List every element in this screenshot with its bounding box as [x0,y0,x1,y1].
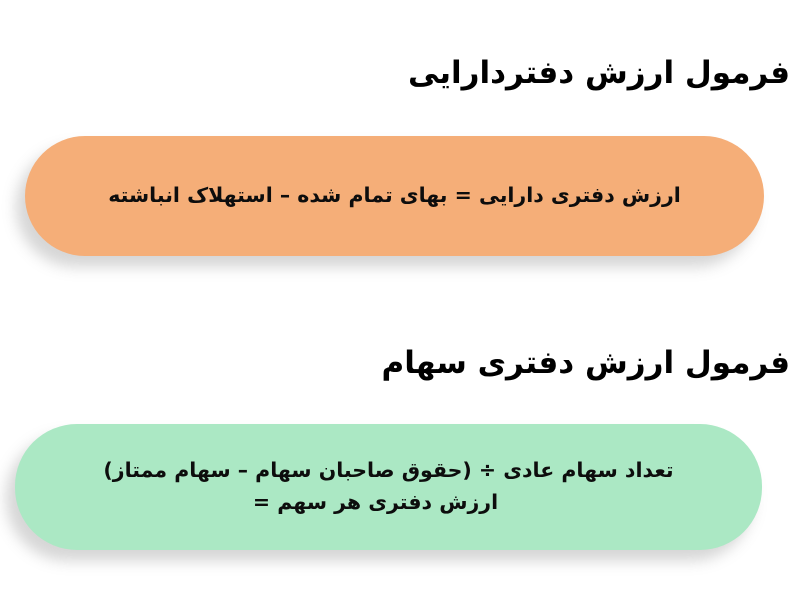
share-formula-line-2: ارزش دفتری هر سهم = [103,487,673,519]
share-section-heading: فرمول ارزش دفتری سهام [10,344,790,383]
asset-formula-text: ارزش دفتری دارایی = بهای تمام شده – استه… [108,180,681,212]
slide-canvas: فرمول ارزش دفتردارایی ارزش دفتری دارایی … [0,0,800,600]
share-formula-line-1: تعداد سهام عادی ÷ (حقوق صاحبان سهام – سه… [103,455,673,487]
asset-formula-pill: ارزش دفتری دارایی = بهای تمام شده – استه… [25,136,764,256]
share-formula-pill: تعداد سهام عادی ÷ (حقوق صاحبان سهام – سه… [15,424,762,550]
share-formula-text: تعداد سهام عادی ÷ (حقوق صاحبان سهام – سه… [103,455,673,519]
asset-section-heading: فرمول ارزش دفتردارایی [10,54,790,93]
